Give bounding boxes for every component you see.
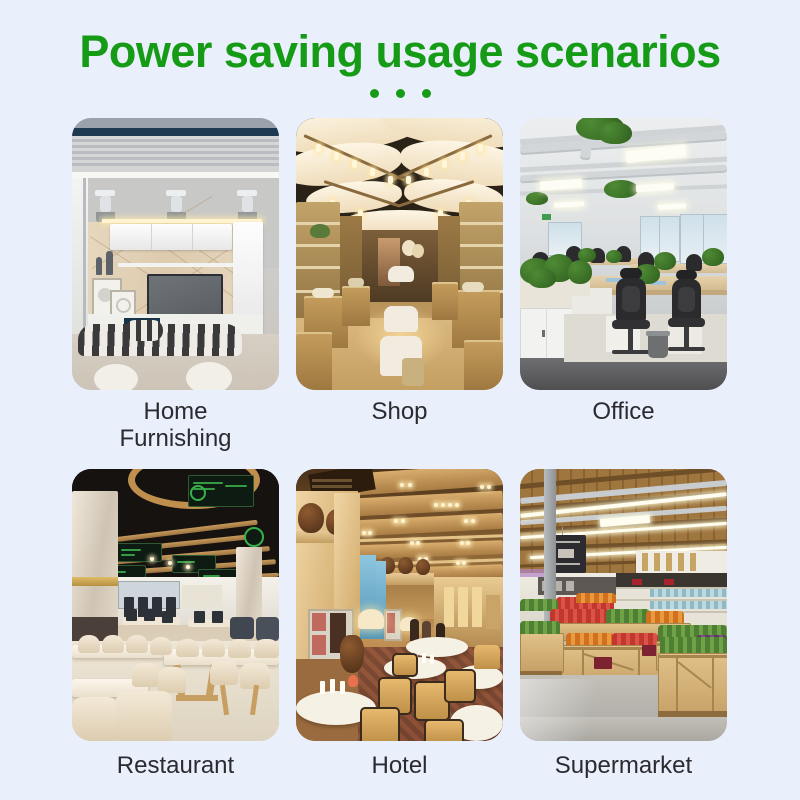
scenario-image-office[interactable]	[520, 118, 727, 390]
scenario-label-home-furnishing: Home Furnishing	[72, 399, 279, 453]
scenario-cell-home-furnishing[interactable]: Home Furnishing	[72, 118, 279, 453]
scenario-image-hotel[interactable]	[296, 469, 503, 741]
page-title: Power saving usage scenarios	[0, 28, 800, 76]
scenario-image-home-furnishing[interactable]	[72, 118, 279, 390]
scenario-cell-restaurant[interactable]: Restaurant	[72, 469, 279, 780]
header: Power saving usage scenarios	[0, 28, 800, 98]
scenario-cell-hotel[interactable]: Hotel	[296, 469, 503, 780]
scenario-cell-supermarket[interactable]: Supermarket	[520, 469, 727, 780]
dot-icon	[396, 89, 405, 98]
scenario-label-hotel: Hotel	[296, 753, 503, 780]
scenario-cell-shop[interactable]: Shop	[296, 118, 503, 453]
scenario-label-office: Office	[520, 399, 727, 426]
scenario-label-supermarket: Supermarket	[520, 753, 727, 780]
scenario-label-shop: Shop	[296, 399, 503, 426]
scenario-image-restaurant[interactable]	[72, 469, 279, 741]
poster-root: Power saving usage scenarios	[0, 0, 800, 800]
dot-icon	[370, 89, 379, 98]
scenario-cell-office[interactable]: Office	[520, 118, 727, 453]
dot-separator	[0, 89, 800, 98]
dot-icon	[422, 89, 431, 98]
scenario-image-shop[interactable]	[296, 118, 503, 390]
scenario-grid: Home Furnishing	[72, 118, 728, 780]
scenario-label-restaurant: Restaurant	[72, 753, 279, 780]
scenario-image-supermarket[interactable]	[520, 469, 727, 741]
